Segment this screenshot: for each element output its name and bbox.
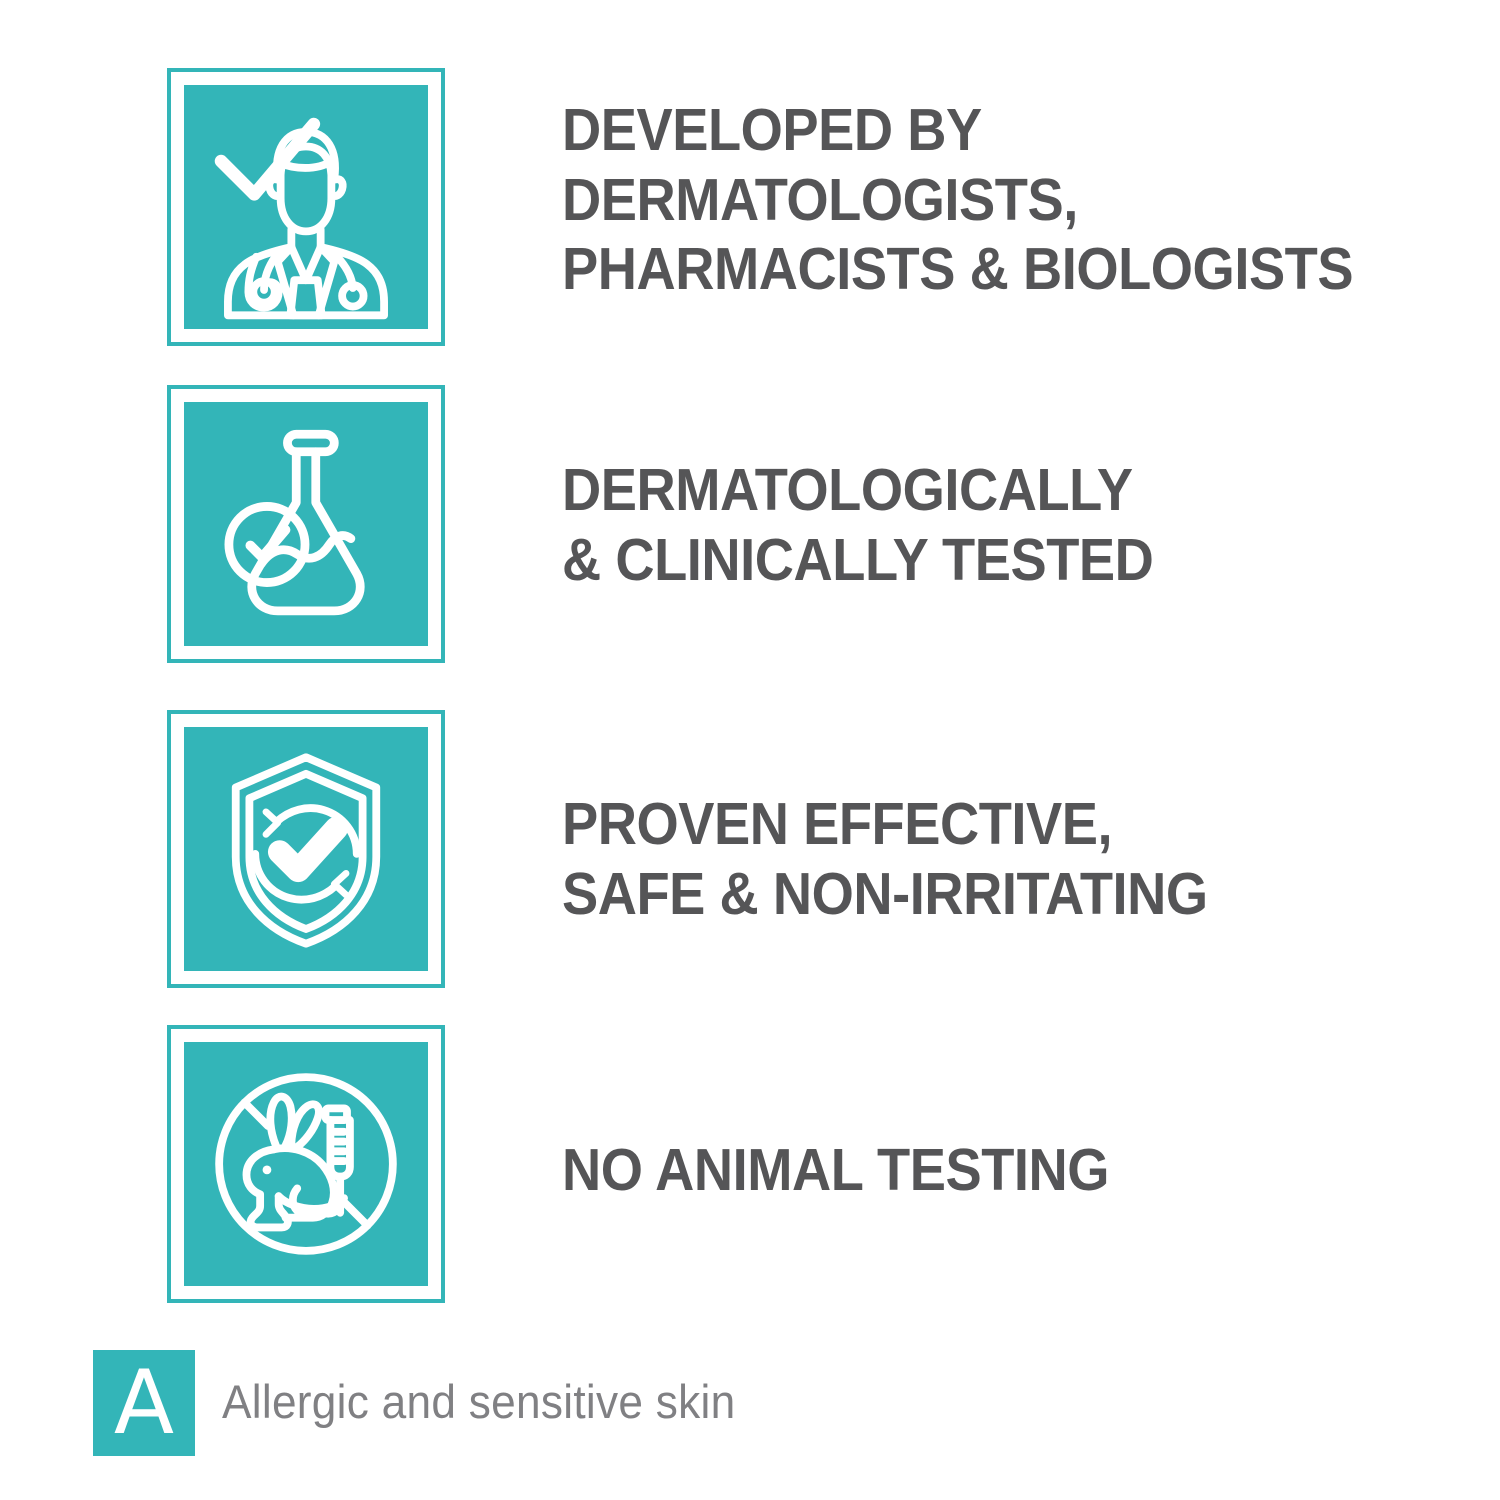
icon-tile-no-animal-testing bbox=[167, 1025, 445, 1303]
feature-text-proven-effective: PROVEN EFFECTIVE, SAFE & NON-IRRITATING bbox=[562, 790, 1390, 929]
no-animal-testing-icon bbox=[184, 1042, 428, 1286]
feature-text-no-animal-testing: NO ANIMAL TESTING bbox=[562, 1136, 1390, 1206]
icon-tile-doctor bbox=[167, 68, 445, 346]
icon-tile-flask bbox=[167, 385, 445, 663]
icon-tile-shield bbox=[167, 710, 445, 988]
footer-label: Allergic and sensitive skin bbox=[222, 1370, 735, 1434]
feature-text-dermatologically-tested: DERMATOLOGICALLY & CLINICALLY TESTED bbox=[562, 456, 1390, 595]
allergy-badge-letter: A bbox=[93, 1350, 195, 1456]
flask-check-icon bbox=[184, 402, 428, 646]
infographic-page: DEVELOPED BY DERMATOLOGISTS, PHARMACISTS… bbox=[0, 0, 1500, 1500]
footer-allergy-note: A Allergic and sensitive skin bbox=[0, 1350, 1500, 1460]
feature-text-developed-by: DEVELOPED BY DERMATOLOGISTS, PHARMACISTS… bbox=[562, 96, 1390, 305]
shield-check-refresh-icon bbox=[184, 727, 428, 971]
doctor-check-icon bbox=[184, 85, 428, 329]
